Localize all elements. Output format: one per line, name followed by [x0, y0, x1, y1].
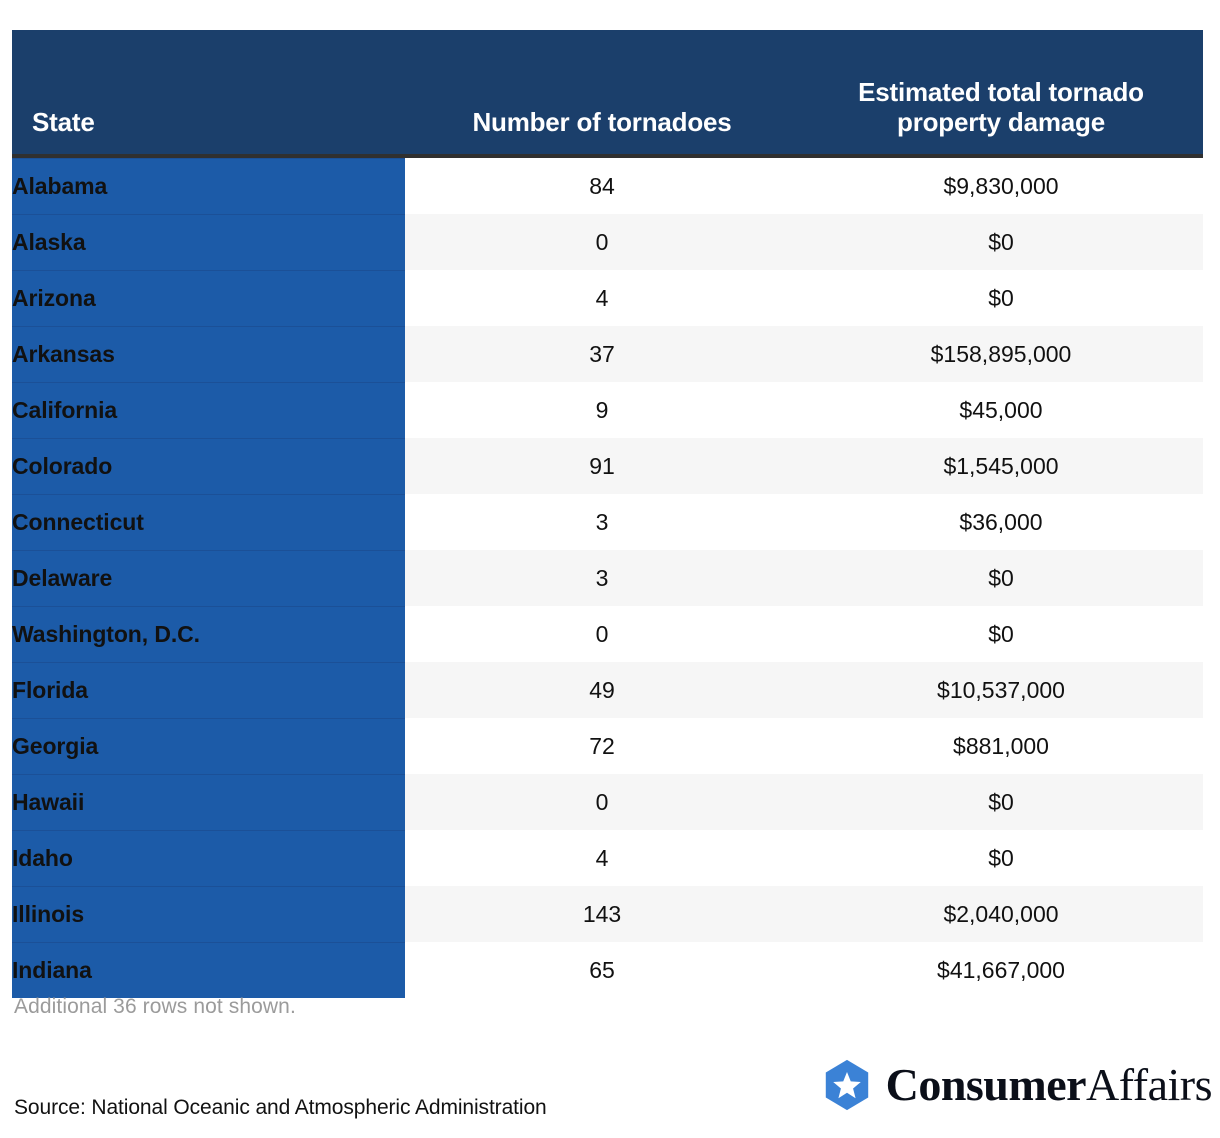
cell-number-of-tornadoes: 4	[405, 270, 799, 326]
brand-wordmark-bold: Consumer	[886, 1059, 1086, 1110]
cell-state: Indiana	[12, 942, 405, 998]
cell-property-damage: $2,040,000	[799, 886, 1203, 942]
tornado-statistics-table: State Number of tornadoes Estimated tota…	[12, 30, 1203, 998]
table-header-row: State Number of tornadoes Estimated tota…	[12, 30, 1203, 154]
consumeraffairs-logo: ConsumerAffairs	[820, 1058, 1212, 1112]
table-row: Colorado91$1,545,000	[12, 438, 1203, 494]
cell-property-damage: $45,000	[799, 382, 1203, 438]
table-row: Georgia72$881,000	[12, 718, 1203, 774]
cell-property-damage: $0	[799, 830, 1203, 886]
table-row: Illinois143$2,040,000	[12, 886, 1203, 942]
cell-state: Arkansas	[12, 326, 405, 382]
column-header-property-damage: Estimated total tornado property damage	[799, 30, 1203, 154]
cell-number-of-tornadoes: 143	[405, 886, 799, 942]
column-header-number-of-tornadoes: Number of tornadoes	[405, 30, 799, 154]
cell-state: Delaware	[12, 550, 405, 606]
table-row: Washington, D.C.0$0	[12, 606, 1203, 662]
cell-property-damage: $0	[799, 606, 1203, 662]
table-row: Arkansas37$158,895,000	[12, 326, 1203, 382]
cell-property-damage: $0	[799, 214, 1203, 270]
cell-number-of-tornadoes: 9	[405, 382, 799, 438]
cell-property-damage: $1,545,000	[799, 438, 1203, 494]
cell-state: Idaho	[12, 830, 405, 886]
cell-state: Florida	[12, 662, 405, 718]
table-row: Indiana65$41,667,000	[12, 942, 1203, 998]
table-body: Alabama84$9,830,000Alaska0$0Arizona4$0Ar…	[12, 154, 1203, 998]
table-sheet: State Number of tornadoes Estimated tota…	[0, 0, 1220, 1138]
cell-property-damage: $158,895,000	[799, 326, 1203, 382]
cell-number-of-tornadoes: 72	[405, 718, 799, 774]
cell-number-of-tornadoes: 0	[405, 774, 799, 830]
cell-state: Georgia	[12, 718, 405, 774]
cell-number-of-tornadoes: 84	[405, 158, 799, 214]
table-row: Arizona4$0	[12, 270, 1203, 326]
table-header: State Number of tornadoes Estimated tota…	[12, 30, 1203, 154]
cell-number-of-tornadoes: 3	[405, 494, 799, 550]
cell-number-of-tornadoes: 65	[405, 942, 799, 998]
cell-number-of-tornadoes: 49	[405, 662, 799, 718]
cell-property-damage: $0	[799, 774, 1203, 830]
cell-number-of-tornadoes: 3	[405, 550, 799, 606]
column-header-damage-line1: Estimated total tornado	[858, 77, 1144, 107]
cell-state: Colorado	[12, 438, 405, 494]
cell-state: Connecticut	[12, 494, 405, 550]
table-row: Idaho4$0	[12, 830, 1203, 886]
column-header-state: State	[12, 30, 405, 154]
column-header-damage-line2: property damage	[897, 107, 1105, 137]
cell-number-of-tornadoes: 0	[405, 214, 799, 270]
table-row: Hawaii0$0	[12, 774, 1203, 830]
table-row: Alabama84$9,830,000	[12, 158, 1203, 214]
cell-property-damage: $881,000	[799, 718, 1203, 774]
cell-state: Alaska	[12, 214, 405, 270]
cell-number-of-tornadoes: 37	[405, 326, 799, 382]
table-row: Alaska0$0	[12, 214, 1203, 270]
cell-number-of-tornadoes: 91	[405, 438, 799, 494]
data-table-container: State Number of tornadoes Estimated tota…	[12, 30, 1203, 998]
cell-state: California	[12, 382, 405, 438]
brand-wordmark-light: Affairs	[1086, 1059, 1212, 1110]
source-attribution: Source: National Oceanic and Atmospheric…	[14, 1096, 547, 1120]
cell-property-damage: $36,000	[799, 494, 1203, 550]
cell-state: Alabama	[12, 158, 405, 214]
table-row: California9$45,000	[12, 382, 1203, 438]
brand-wordmark: ConsumerAffairs	[886, 1062, 1212, 1108]
cell-property-damage: $41,667,000	[799, 942, 1203, 998]
rows-not-shown-note: Additional 36 rows not shown.	[14, 995, 296, 1019]
table-row: Florida49$10,537,000	[12, 662, 1203, 718]
cell-state: Arizona	[12, 270, 405, 326]
cell-property-damage: $9,830,000	[799, 158, 1203, 214]
cell-number-of-tornadoes: 4	[405, 830, 799, 886]
cell-state: Washington, D.C.	[12, 606, 405, 662]
cell-state: Illinois	[12, 886, 405, 942]
cell-state: Hawaii	[12, 774, 405, 830]
cell-property-damage: $0	[799, 550, 1203, 606]
table-row: Delaware3$0	[12, 550, 1203, 606]
cell-property-damage: $10,537,000	[799, 662, 1203, 718]
cell-property-damage: $0	[799, 270, 1203, 326]
table-row: Connecticut3$36,000	[12, 494, 1203, 550]
cell-number-of-tornadoes: 0	[405, 606, 799, 662]
hexagon-star-icon	[820, 1058, 874, 1112]
